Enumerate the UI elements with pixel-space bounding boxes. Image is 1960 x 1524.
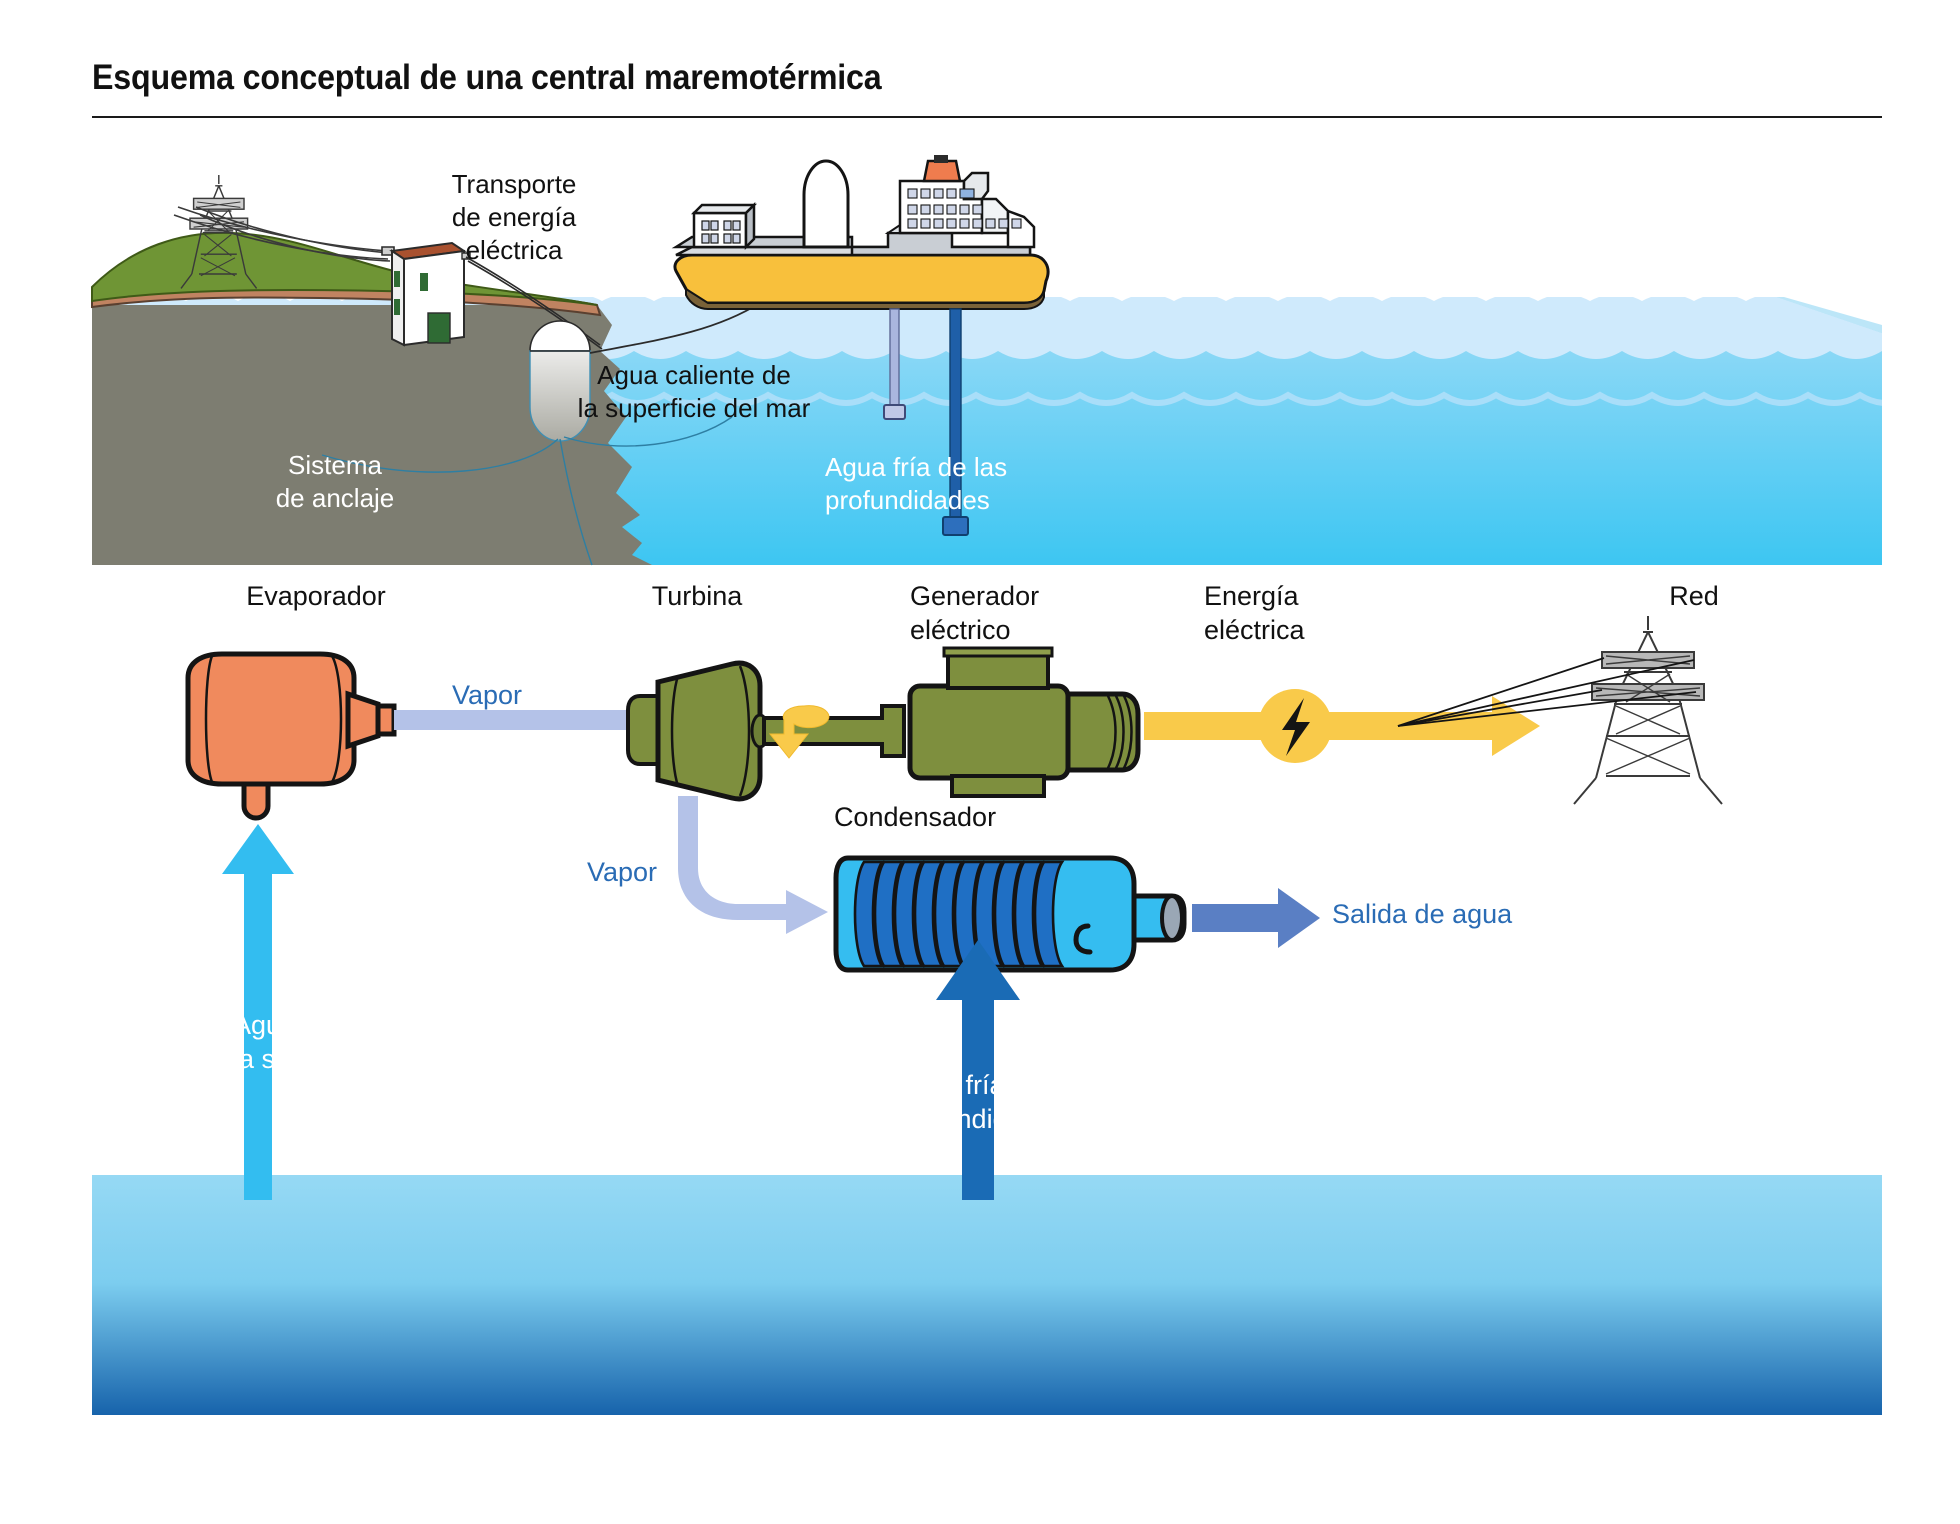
condenser-coil-icon (836, 858, 1184, 970)
label-warm-water-bottom: Agua caliente de la superficie del mar (233, 1008, 475, 1076)
label-cold-water-top: Agua fría de las profundidades (825, 451, 1007, 517)
label-energia-electrica: Energía eléctrica (1204, 579, 1305, 647)
diagram-root: Esquema conceptual de una central maremo… (0, 0, 1960, 1524)
vapor-flow-arrow-icon-2 (678, 796, 828, 934)
transmission-tower-icon-grid (1398, 616, 1722, 804)
label-warm-water-top: Agua caliente de la superficie del mar (578, 359, 811, 425)
process-panel: Evaporador Turbina Generador eléctrico E… (92, 600, 1882, 1460)
otec-platform-ship-icon (675, 155, 1048, 309)
label-vapor-1: Vapor (452, 678, 522, 712)
electric-power-arrow-icon (1144, 689, 1540, 763)
label-red: Red (1669, 579, 1719, 613)
label-turbina: Turbina (652, 579, 743, 613)
label-sistema-anclaje: Sistema de anclaje (276, 449, 395, 515)
label-condensador: Condensador (834, 800, 996, 834)
electric-generator-icon (910, 648, 1138, 796)
label-generador-electrico: Generador eléctrico (910, 579, 1039, 647)
title-divider (92, 116, 1882, 118)
label-vapor-2: Vapor (587, 855, 657, 889)
water-outlet-arrow-icon (1192, 888, 1320, 948)
label-transport-energia: Transporte de energía eléctrica (452, 168, 577, 266)
evaporator-vessel-icon (188, 654, 394, 818)
label-cold-water-bottom: Agua fría de las profundidades (895, 1068, 1084, 1136)
ocean-block (92, 1175, 1882, 1415)
turbine-icon (628, 663, 768, 799)
label-salida-de-agua: Salida de agua (1332, 897, 1512, 931)
title-block: Esquema conceptual de una central maremo… (92, 58, 1882, 118)
scene-panel: Transporte de energía eléctrica Agua cal… (92, 155, 1882, 565)
page-title: Esquema conceptual de una central maremo… (92, 58, 1739, 98)
label-evaporador: Evaporador (246, 579, 386, 613)
